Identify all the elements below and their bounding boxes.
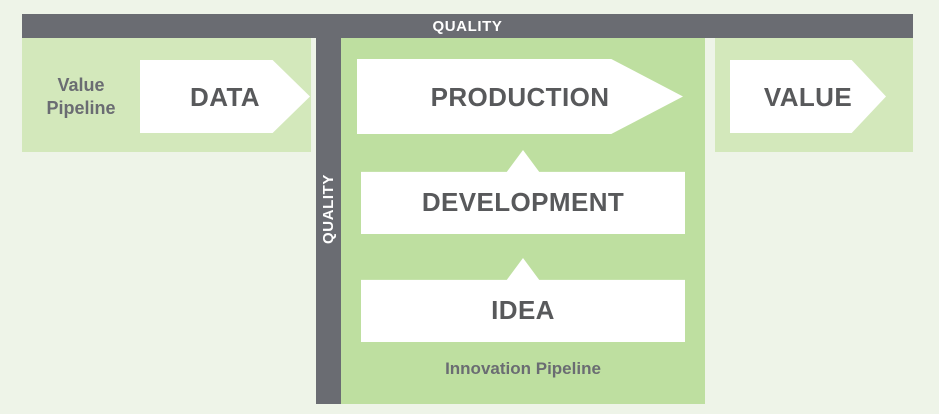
value-pipeline-caption-line1: Value [57,74,104,97]
stage-data-label: DATA [190,84,260,110]
value-pipeline-caption: Value Pipeline [28,60,134,133]
stage-development-label: DEVELOPMENT [422,169,624,215]
stage-value-label: VALUE [764,84,852,110]
stage-idea-label: IDEA [491,277,555,323]
stage-production-label: PRODUCTION [431,84,610,110]
diagram-canvas: QUALITY QUALITY Value Pipeline DATA PROD… [0,0,939,414]
quality-bar-vertical: QUALITY [316,14,341,404]
value-pipeline-caption-line2: Pipeline [46,97,115,120]
innovation-pipeline-caption: Innovation Pipeline [341,358,705,379]
quality-bar-vertical-label: QUALITY [316,14,341,404]
quality-bar-horizontal: QUALITY [22,14,913,38]
quality-bar-horizontal-label: QUALITY [22,14,913,38]
